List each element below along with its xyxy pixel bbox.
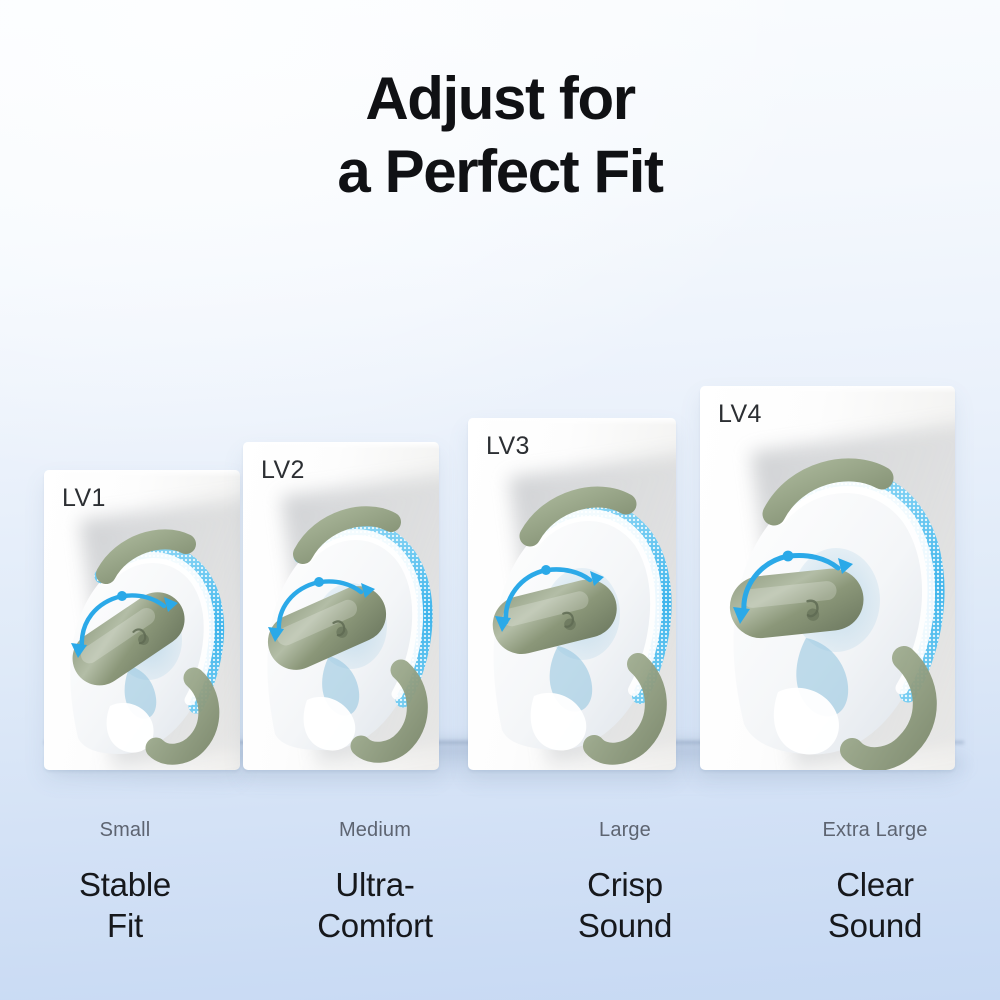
ear-illustration-lv4 bbox=[700, 386, 955, 770]
product-feature-poster: Adjust for a Perfect Fit bbox=[0, 0, 1000, 1000]
ear-illustration-lv3 bbox=[468, 418, 676, 770]
page-title-line-2: a Perfect Fit bbox=[0, 135, 1000, 208]
caption-size-label: Large bbox=[500, 818, 750, 842]
caption-size-label: Extra Large bbox=[750, 818, 1000, 842]
fit-level-label-lv3: LV3 bbox=[486, 432, 530, 461]
fit-level-card-lv2[interactable]: LV2 bbox=[243, 442, 439, 770]
page-title-line-1: Adjust for bbox=[365, 65, 634, 132]
fit-level-card-lv4[interactable]: LV4 bbox=[700, 386, 955, 770]
fit-level-label-lv1: LV1 bbox=[62, 484, 106, 513]
caption-column-small: Small Stable Fit bbox=[0, 818, 250, 988]
fit-level-card-lv1[interactable]: LV1 bbox=[44, 470, 240, 770]
caption-column-medium: Medium Ultra- Comfort bbox=[250, 818, 500, 988]
caption-size-label: Small bbox=[0, 818, 250, 842]
caption-benefit-label: Ultra- Comfort bbox=[250, 864, 500, 946]
caption-row: Small Stable Fit Medium Ultra- Comfort L… bbox=[0, 818, 1000, 988]
caption-column-large: Large Crisp Sound bbox=[500, 818, 750, 988]
fit-level-stage: LV1 bbox=[0, 330, 1000, 770]
caption-benefit-label: Crisp Sound bbox=[500, 864, 750, 946]
fit-level-label-lv4: LV4 bbox=[718, 400, 762, 429]
caption-benefit-label: Clear Sound bbox=[750, 864, 1000, 946]
page-title: Adjust for a Perfect Fit bbox=[0, 62, 1000, 208]
caption-column-extra-large: Extra Large Clear Sound bbox=[750, 818, 1000, 988]
fit-level-label-lv2: LV2 bbox=[261, 456, 305, 485]
caption-benefit-label: Stable Fit bbox=[0, 864, 250, 946]
fit-level-card-lv3[interactable]: LV3 bbox=[468, 418, 676, 770]
ear-illustration-lv2 bbox=[243, 442, 439, 770]
caption-size-label: Medium bbox=[250, 818, 500, 842]
ear-illustration-lv1 bbox=[44, 470, 240, 770]
